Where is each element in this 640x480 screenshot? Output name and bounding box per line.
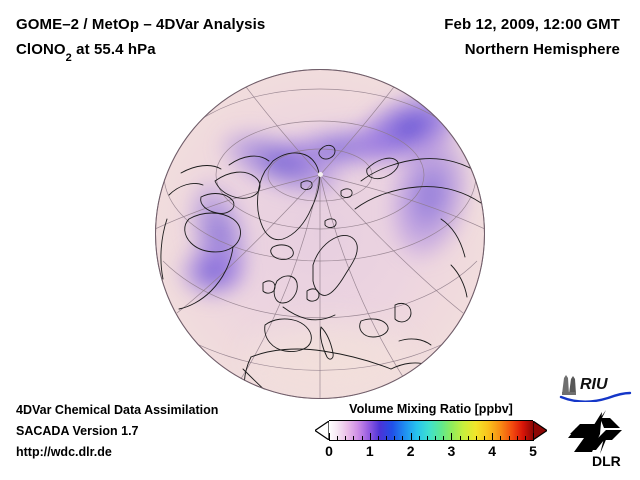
dlr-pinwheel-icon bbox=[568, 410, 622, 454]
colorbar-min-arrow-icon bbox=[315, 421, 329, 440]
cologne-cathedral-icon bbox=[562, 375, 576, 395]
footer-url-link[interactable]: http://wdc.dlr.de bbox=[16, 442, 306, 463]
region-label: Northern Hemisphere bbox=[320, 37, 620, 62]
colorbar-tick-label: 3 bbox=[447, 442, 455, 460]
riu-wordmark: RIU bbox=[580, 376, 608, 393]
colorbar-tick-label: 1 bbox=[366, 442, 374, 460]
colorbar-row bbox=[315, 421, 547, 440]
colorbar-tick-labels: 012345 bbox=[315, 442, 547, 462]
colorbar-title: Volume Mixing Ratio [ppbv] bbox=[315, 400, 547, 418]
colorbar-max-arrow-icon bbox=[533, 421, 547, 440]
riu-logo: RIU bbox=[558, 372, 632, 402]
datetime-label: Feb 12, 2009, 12:00 GMT bbox=[320, 12, 620, 37]
colorbar-tick-label: 4 bbox=[488, 442, 496, 460]
header-right-block: Feb 12, 2009, 12:00 GMT Northern Hemisph… bbox=[320, 12, 620, 62]
colorbar: Volume Mixing Ratio [ppbv] 012345 bbox=[315, 400, 547, 462]
dlr-wordmark: DLR bbox=[592, 453, 621, 468]
coastlines bbox=[155, 69, 485, 399]
colorbar-tick-label: 5 bbox=[529, 442, 537, 460]
footer-left-block: 4DVar Chemical Data Assimilation SACADA … bbox=[16, 400, 306, 463]
footer-assimilation-label: 4DVar Chemical Data Assimilation bbox=[16, 400, 306, 421]
pressure-level: at 55.4 hPa bbox=[72, 41, 156, 58]
species-subscript: 2 bbox=[66, 52, 72, 64]
colorbar-tick-label: 0 bbox=[325, 442, 333, 460]
globe-disc bbox=[155, 69, 485, 399]
colorbar-gradient bbox=[329, 420, 533, 441]
colorbar-tick-label: 2 bbox=[407, 442, 415, 460]
globe-map bbox=[155, 69, 485, 399]
dlr-logo: DLR bbox=[566, 410, 632, 468]
species-name: ClONO bbox=[16, 41, 66, 58]
north-pole-marker bbox=[318, 172, 323, 177]
footer-version-label: SACADA Version 1.7 bbox=[16, 421, 306, 442]
